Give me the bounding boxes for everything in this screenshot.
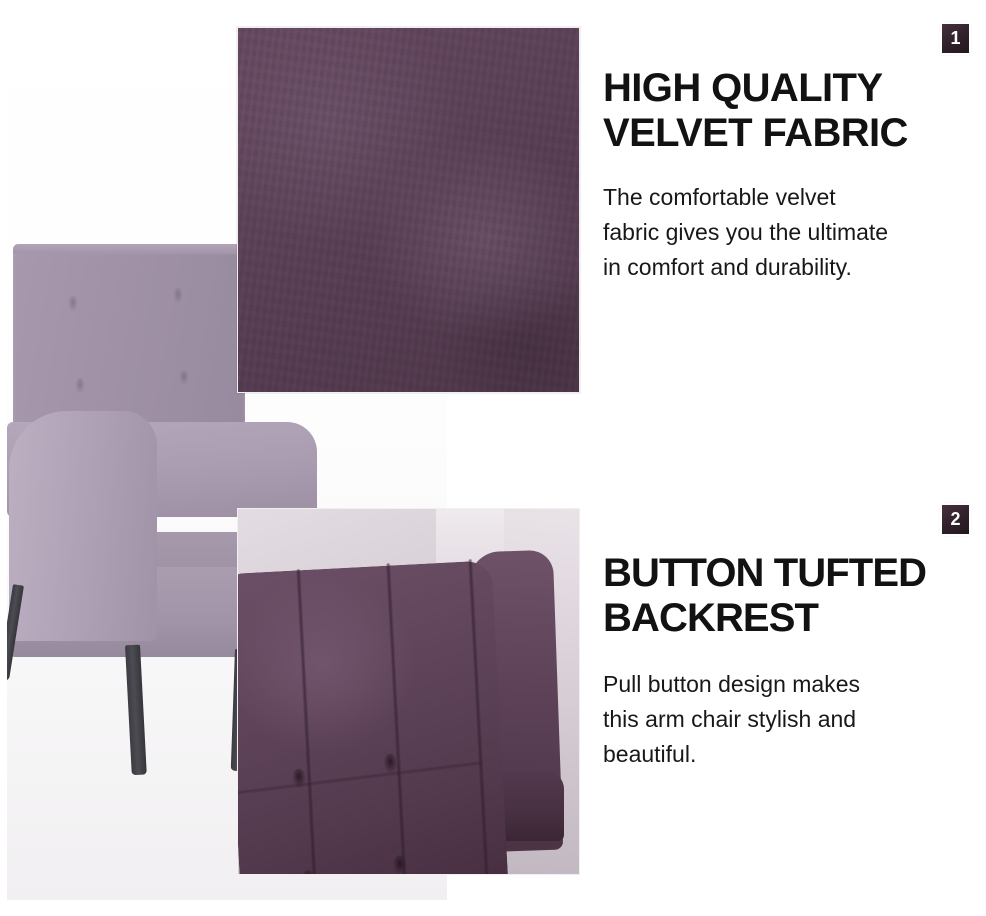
feature-body-2: Pull button design makes this arm chair … xyxy=(603,667,971,772)
feature-title-2: BUTTON TUFTED BACKREST xyxy=(603,551,971,641)
chair-armrest-shape xyxy=(9,411,157,641)
tuft-dimple xyxy=(68,296,78,312)
feature-title-1: HIGH QUALITY VELVET FABRIC xyxy=(603,66,971,156)
feature-body-1: The comfortable velvet fabric gives you … xyxy=(603,180,971,285)
tuft-dimple xyxy=(173,288,183,304)
feature-block-1: 1 HIGH QUALITY VELVET FABRIC The comfort… xyxy=(603,24,971,284)
tuft-seam-horizontal xyxy=(237,760,482,795)
feature-badge-1: 1 xyxy=(942,24,969,53)
velvet-sheen-overlay xyxy=(238,28,579,392)
feature-block-2: 2 BUTTON TUFTED BACKREST Pull button des… xyxy=(603,505,971,771)
backrest-cushion xyxy=(237,560,508,875)
feature-badge-2: 2 xyxy=(942,505,969,534)
velvet-fabric-swatch-image xyxy=(237,27,580,393)
tuft-dimple xyxy=(75,378,85,394)
tuft-dimple xyxy=(179,370,189,386)
chair-leg-front-right xyxy=(125,645,147,776)
tufted-backrest-image xyxy=(237,508,580,875)
infographic-canvas: 1 HIGH QUALITY VELVET FABRIC The comfort… xyxy=(0,0,986,916)
